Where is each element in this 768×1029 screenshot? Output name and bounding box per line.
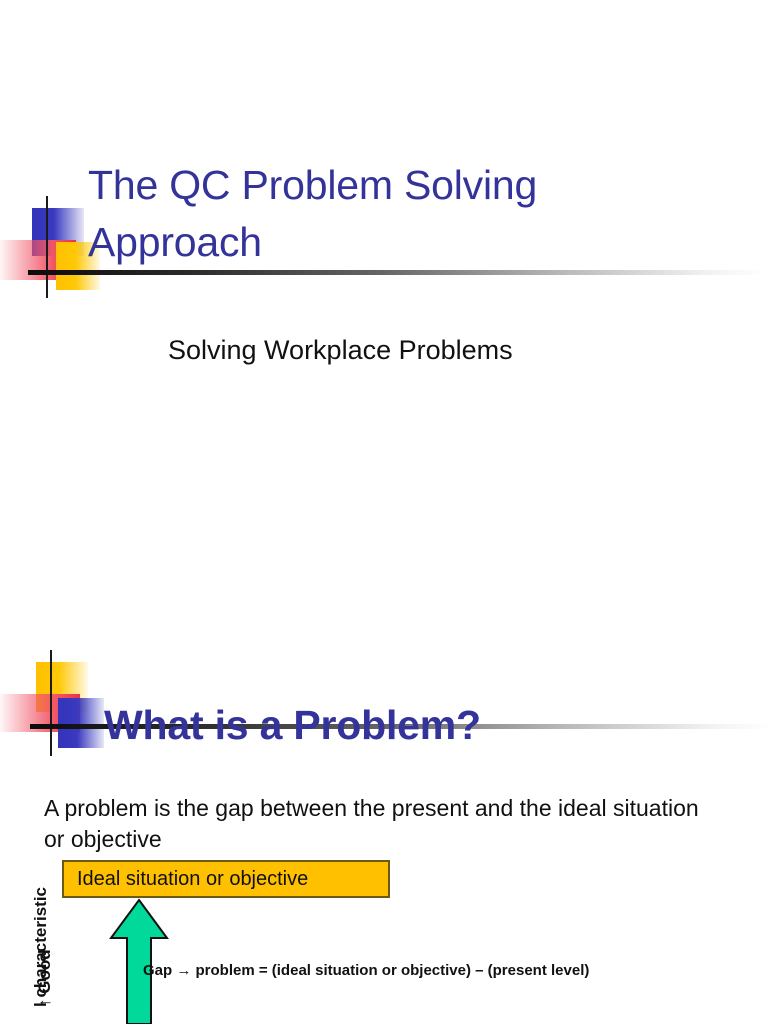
page-subtitle: Solving Workplace Problems — [168, 330, 513, 370]
y-axis-label-good: ↑ Good — [35, 887, 57, 1007]
slide-what-is-a-problem: What is a Problem? A problem is the gap … — [0, 640, 768, 1024]
slide-title: The QC Problem Solving Approach Solving … — [0, 0, 768, 640]
motif-blue-square — [58, 698, 104, 748]
motif-vertical-line — [46, 196, 48, 298]
ideal-situation-box: Ideal situation or objective — [62, 860, 390, 898]
ideal-situation-label: Ideal situation or objective — [77, 868, 308, 891]
page-title: The QC Problem Solving Approach — [88, 157, 688, 271]
section-heading: What is a Problem? — [104, 696, 481, 754]
gap-formula-text: Gap → problem = (ideal situation or obje… — [143, 962, 589, 979]
document-page: The QC Problem Solving Approach Solving … — [0, 0, 768, 1024]
gap-arrow-up-icon — [108, 898, 170, 1024]
motif-vertical-line — [50, 650, 52, 756]
gap-diagram: Ideal situation or objective l character… — [0, 840, 768, 1024]
